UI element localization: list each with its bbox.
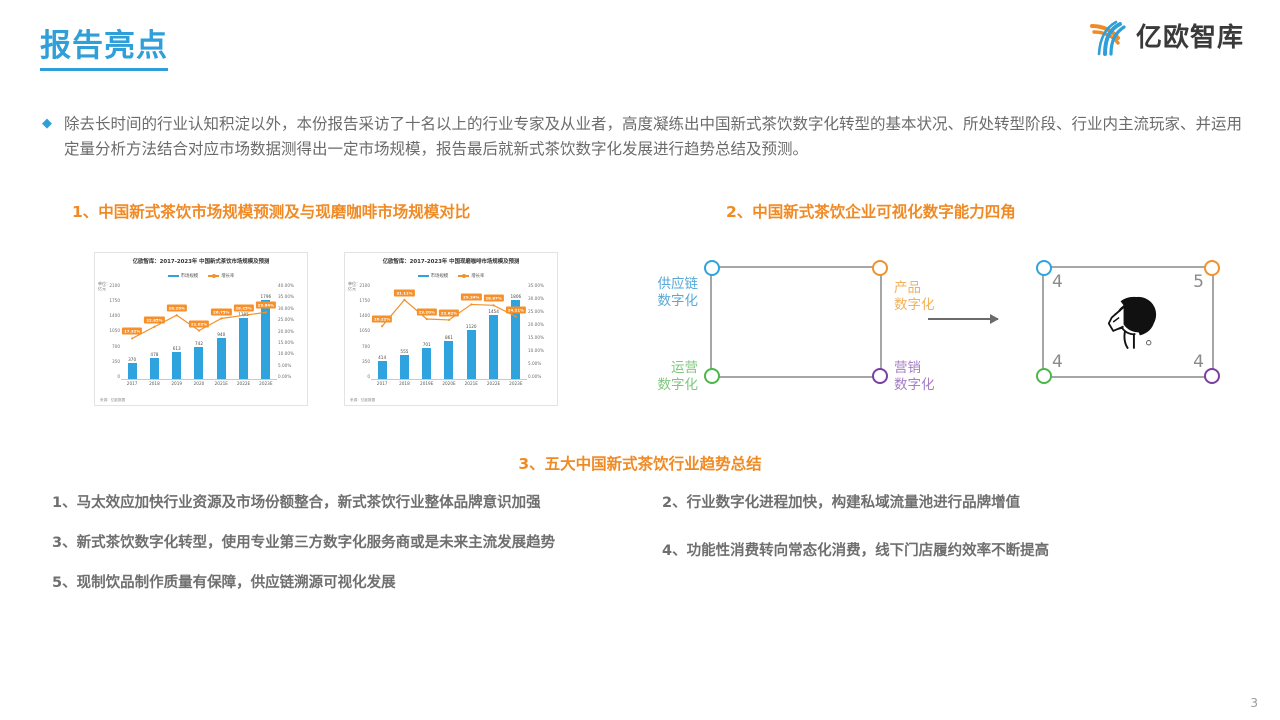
- y2-tick: 15.00%: [278, 340, 294, 345]
- x-axis-labels: 201720182019E2020E2021E2022E2023E: [371, 381, 527, 386]
- y2-tick: 30.00%: [278, 306, 294, 311]
- y-axis-left-ticks: 2100 1750 1400 1050 700 350 0: [99, 283, 120, 379]
- trend-list-left: 1、马太效应加快行业资源及市场份额整合，新式茶饮行业整体品牌意识加强3、新式茶饮…: [52, 492, 632, 612]
- bar-column: 742: [188, 283, 210, 379]
- chart-coffee-market-size: 亿欧智库：2017-2023年 中国现磨咖啡市场规模及预测 市场规模 增长率 单…: [344, 252, 558, 406]
- diamond-bullet-icon: ◆: [42, 112, 52, 136]
- y2-tick: 0.00%: [528, 374, 541, 379]
- y2-tick: 10.00%: [528, 348, 544, 353]
- page-title: 报告亮点: [40, 20, 168, 65]
- chart-title: 亿欧智库：2017-2023年 中国现磨咖啡市场规模及预测: [345, 257, 557, 265]
- y-tick: 700: [112, 344, 120, 349]
- y2-tick: 35.00%: [528, 283, 544, 288]
- quadrant-frame-generic: 供应链 数字化 产品 数字化 运营 数字化 营销 数字化: [710, 266, 882, 378]
- x-tick-label: 2022E: [232, 381, 254, 386]
- y-tick: 0: [117, 374, 120, 379]
- label-line: 供应链: [658, 276, 699, 293]
- legend-item-bar: 市场规模: [418, 273, 449, 279]
- x-tick-label: 2020: [188, 381, 210, 386]
- bar-column: 701: [416, 283, 438, 379]
- node-product-scored[interactable]: [1204, 260, 1220, 276]
- y-axis-left-ticks: 2100 1750 1400 1050 700 350 0: [349, 283, 370, 379]
- chart-source-note: 来源：亿欧数据: [350, 398, 375, 403]
- bar-value-label: 478: [150, 352, 158, 357]
- bar-value-label: 742: [195, 341, 203, 346]
- bar-column: 1454: [482, 283, 504, 379]
- trend-item: 4、功能性消费转向常态化消费，线下门店履约效率不断提高: [662, 540, 1222, 563]
- legend-line-label: 增长率: [221, 273, 234, 279]
- bar-value-label: 1454: [488, 309, 499, 314]
- legend-bar-swatch: [168, 275, 179, 277]
- section-heading-1: 1、中国新式茶饮市场规模预测及与现磨咖啡市场规模对比: [72, 200, 470, 222]
- x-tick-label: 2022E: [482, 381, 504, 386]
- label-supply-chain: 供应链 数字化: [658, 276, 699, 310]
- label-marketing: 营销 数字化: [894, 360, 935, 394]
- bar-column: 1806: [505, 283, 527, 379]
- legend-line-label: 增长率: [471, 273, 484, 279]
- intro-text: 除去长时间的行业认知积淀以外，本份报告采访了十名以上的行业专家及从业者，高度凝练…: [64, 112, 1242, 162]
- legend-bar-label: 市场规模: [431, 273, 449, 279]
- title-underline-divider: [40, 68, 168, 71]
- bar-column: 555: [393, 283, 415, 379]
- y2-tick: 25.00%: [528, 309, 544, 314]
- label-line: 运营: [658, 360, 699, 377]
- label-operations: 运营 数字化: [658, 360, 699, 394]
- right-arrow-icon: [928, 318, 998, 320]
- y2-tick: 20.00%: [278, 329, 294, 334]
- bar-value-label: 861: [445, 335, 453, 340]
- quadrant-frame-scored: 4 5 4 4: [1042, 266, 1214, 378]
- legend-item-bar: 市场规模: [168, 273, 199, 279]
- node-marketing[interactable]: [872, 368, 888, 384]
- section-heading-3: 3、五大中国新式茶饮行业趋势总结: [0, 452, 1280, 474]
- y2-tick: 5.00%: [528, 361, 541, 366]
- bar-column: 370: [121, 283, 143, 379]
- legend-item-line: 增长率: [458, 273, 484, 279]
- section-heading-2: 2、中国新式茶饮企业可视化数字能力四角: [726, 200, 1016, 222]
- bar-column: 1120: [460, 283, 482, 379]
- bar: [467, 330, 476, 379]
- y-tick: 350: [112, 359, 120, 364]
- bar-value-label: 1806: [510, 294, 521, 299]
- bar: [128, 363, 137, 379]
- y2-tick: 30.00%: [528, 296, 544, 301]
- legend-line-swatch: [458, 275, 469, 277]
- bar-value-label: 1796: [260, 294, 271, 299]
- x-axis-labels: 20172018201920202021E2022E2023E: [121, 381, 277, 386]
- legend-item-line: 增长率: [208, 273, 234, 279]
- x-tick-label: 2017: [121, 381, 143, 386]
- bar: [239, 318, 248, 379]
- y2-tick: 25.00%: [278, 317, 294, 322]
- trend-item: 3、新式茶饮数字化转型，使用专业第三方数字化服务商或是未来主流发展趋势: [52, 532, 632, 555]
- y-tick: 2100: [109, 283, 120, 288]
- label-line: 数字化: [894, 297, 935, 314]
- chart-title: 亿欧智库：2017-2023年 中国新式茶饮市场规模及预测: [95, 257, 307, 265]
- y-tick: 2100: [359, 283, 370, 288]
- bar: [217, 338, 226, 379]
- trend-item: 1、马太效应加快行业资源及市场份额整合，新式茶饮行业整体品牌意识加强: [52, 492, 632, 515]
- legend-bar-swatch: [418, 275, 429, 277]
- legend-line-swatch: [208, 275, 219, 277]
- bar-value-label: 414: [378, 355, 386, 360]
- chart-legend: 市场规模 增长率: [95, 273, 307, 279]
- y-axis-right-ticks: 40.00% 35.00% 30.00% 25.00% 20.00% 15.00…: [278, 283, 305, 379]
- bar: [172, 352, 181, 379]
- chart-tea-market-size: 亿欧智库：2017-2023年 中国新式茶饮市场规模及预测 市场规模 增长率 单…: [94, 252, 308, 406]
- node-operations-scored[interactable]: [1036, 368, 1052, 384]
- bar-value-label: 701: [423, 342, 431, 347]
- bar-value-label: 940: [217, 332, 225, 337]
- y2-tick: 40.00%: [278, 283, 294, 288]
- bar-column: 613: [166, 283, 188, 379]
- node-operations[interactable]: [704, 368, 720, 384]
- node-supply-chain-scored[interactable]: [1036, 260, 1052, 276]
- y2-tick: 0.00%: [278, 374, 291, 379]
- bar-value-label: 370: [128, 357, 136, 362]
- y-tick: 350: [362, 359, 370, 364]
- x-tick-label: 2017: [371, 381, 393, 386]
- brand-logo: 亿欧智库: [1086, 16, 1244, 60]
- bar-column: 1796: [255, 283, 277, 379]
- bar-value-label: 1385: [238, 312, 249, 317]
- bar: [194, 347, 203, 380]
- logo-text: 亿欧智库: [1136, 25, 1244, 51]
- bar-column: 1385: [232, 283, 254, 379]
- bar-value-label: 1120: [466, 324, 477, 329]
- digital-capability-quadrant: 供应链 数字化 产品 数字化 运营 数字化 营销 数字化 4 5: [636, 250, 1236, 400]
- bar: [489, 315, 498, 379]
- bar-value-label: 555: [400, 349, 408, 354]
- bar: [400, 355, 409, 379]
- trend-item: 2、行业数字化进程加快，构建私域流量池进行品牌增值: [662, 492, 1222, 515]
- score-top-right: 5: [1193, 272, 1204, 292]
- bar: [261, 300, 270, 379]
- chart-source-note: 来源：亿欧数据: [100, 398, 125, 403]
- bar: [378, 361, 387, 379]
- y-tick: 1050: [359, 328, 370, 333]
- y2-tick: 15.00%: [528, 335, 544, 340]
- score-bottom-left: 4: [1052, 352, 1063, 372]
- x-tick-label: 2021E: [460, 381, 482, 386]
- trend-list-right: 2、行业数字化进程加快，构建私域流量池进行品牌增值4、功能性消费转向常态化消费，…: [662, 492, 1222, 588]
- label-line: 产品: [894, 280, 935, 297]
- x-tick-label: 2023E: [255, 381, 277, 386]
- bar-column: 478: [143, 283, 165, 379]
- slide-root: 报告亮点 亿欧智库 ◆ 除去长时间的行业认知积淀以外，本份报告采访了十名以上的行…: [0, 0, 1280, 720]
- label-line: 数字化: [894, 377, 935, 394]
- bar-column: 414: [371, 283, 393, 379]
- chart-bars: 37047861374294013851796: [121, 283, 277, 380]
- node-supply-chain[interactable]: [704, 260, 720, 276]
- bar: [150, 358, 159, 379]
- bar-column: 861: [438, 283, 460, 379]
- label-line: 数字化: [658, 293, 699, 310]
- score-bottom-right: 4: [1193, 352, 1204, 372]
- x-tick-label: 2023E: [505, 381, 527, 386]
- y-tick: 700: [362, 344, 370, 349]
- bar: [444, 341, 453, 379]
- node-marketing-scored[interactable]: [1204, 368, 1220, 384]
- y-tick: 1050: [109, 328, 120, 333]
- bar-column: 940: [210, 283, 232, 379]
- bar: [422, 348, 431, 379]
- x-tick-label: 2019: [166, 381, 188, 386]
- y-tick: 1400: [359, 313, 370, 318]
- x-tick-label: 2021E: [210, 381, 232, 386]
- legend-bar-label: 市场规模: [181, 273, 199, 279]
- bar-value-label: 613: [173, 346, 181, 351]
- y-axis-right-ticks: 35.00% 30.00% 25.00% 20.00% 15.00% 10.00…: [528, 283, 555, 379]
- drinking-person-logo-icon: [1091, 285, 1165, 359]
- node-product[interactable]: [872, 260, 888, 276]
- y2-tick: 20.00%: [528, 322, 544, 327]
- x-tick-label: 2018: [393, 381, 415, 386]
- label-product: 产品 数字化: [894, 280, 935, 314]
- y2-tick: 35.00%: [278, 294, 294, 299]
- trend-item: 5、现制饮品制作质量有保障，供应链溯源可视化发展: [52, 572, 632, 595]
- x-tick-label: 2020E: [438, 381, 460, 386]
- y-tick: 1400: [109, 313, 120, 318]
- y-tick: 0: [367, 374, 370, 379]
- y-tick: 1750: [109, 298, 120, 303]
- x-tick-label: 2018: [143, 381, 165, 386]
- chart-legend: 市场规模 增长率: [345, 273, 557, 279]
- y2-tick: 10.00%: [278, 351, 294, 356]
- y2-tick: 5.00%: [278, 363, 291, 368]
- label-line: 营销: [894, 360, 935, 377]
- score-top-left: 4: [1052, 272, 1063, 292]
- label-line: 数字化: [658, 377, 699, 394]
- chart-bars: 414555701861112014541806: [371, 283, 527, 380]
- y-tick: 1750: [359, 298, 370, 303]
- x-tick-label: 2019E: [416, 381, 438, 386]
- bar: [511, 300, 520, 379]
- page-number: 3: [1250, 696, 1258, 710]
- eo-intelligence-mark-icon: [1086, 16, 1130, 60]
- intro-paragraph: ◆ 除去长时间的行业认知积淀以外，本份报告采访了十名以上的行业专家及从业者，高度…: [42, 112, 1242, 162]
